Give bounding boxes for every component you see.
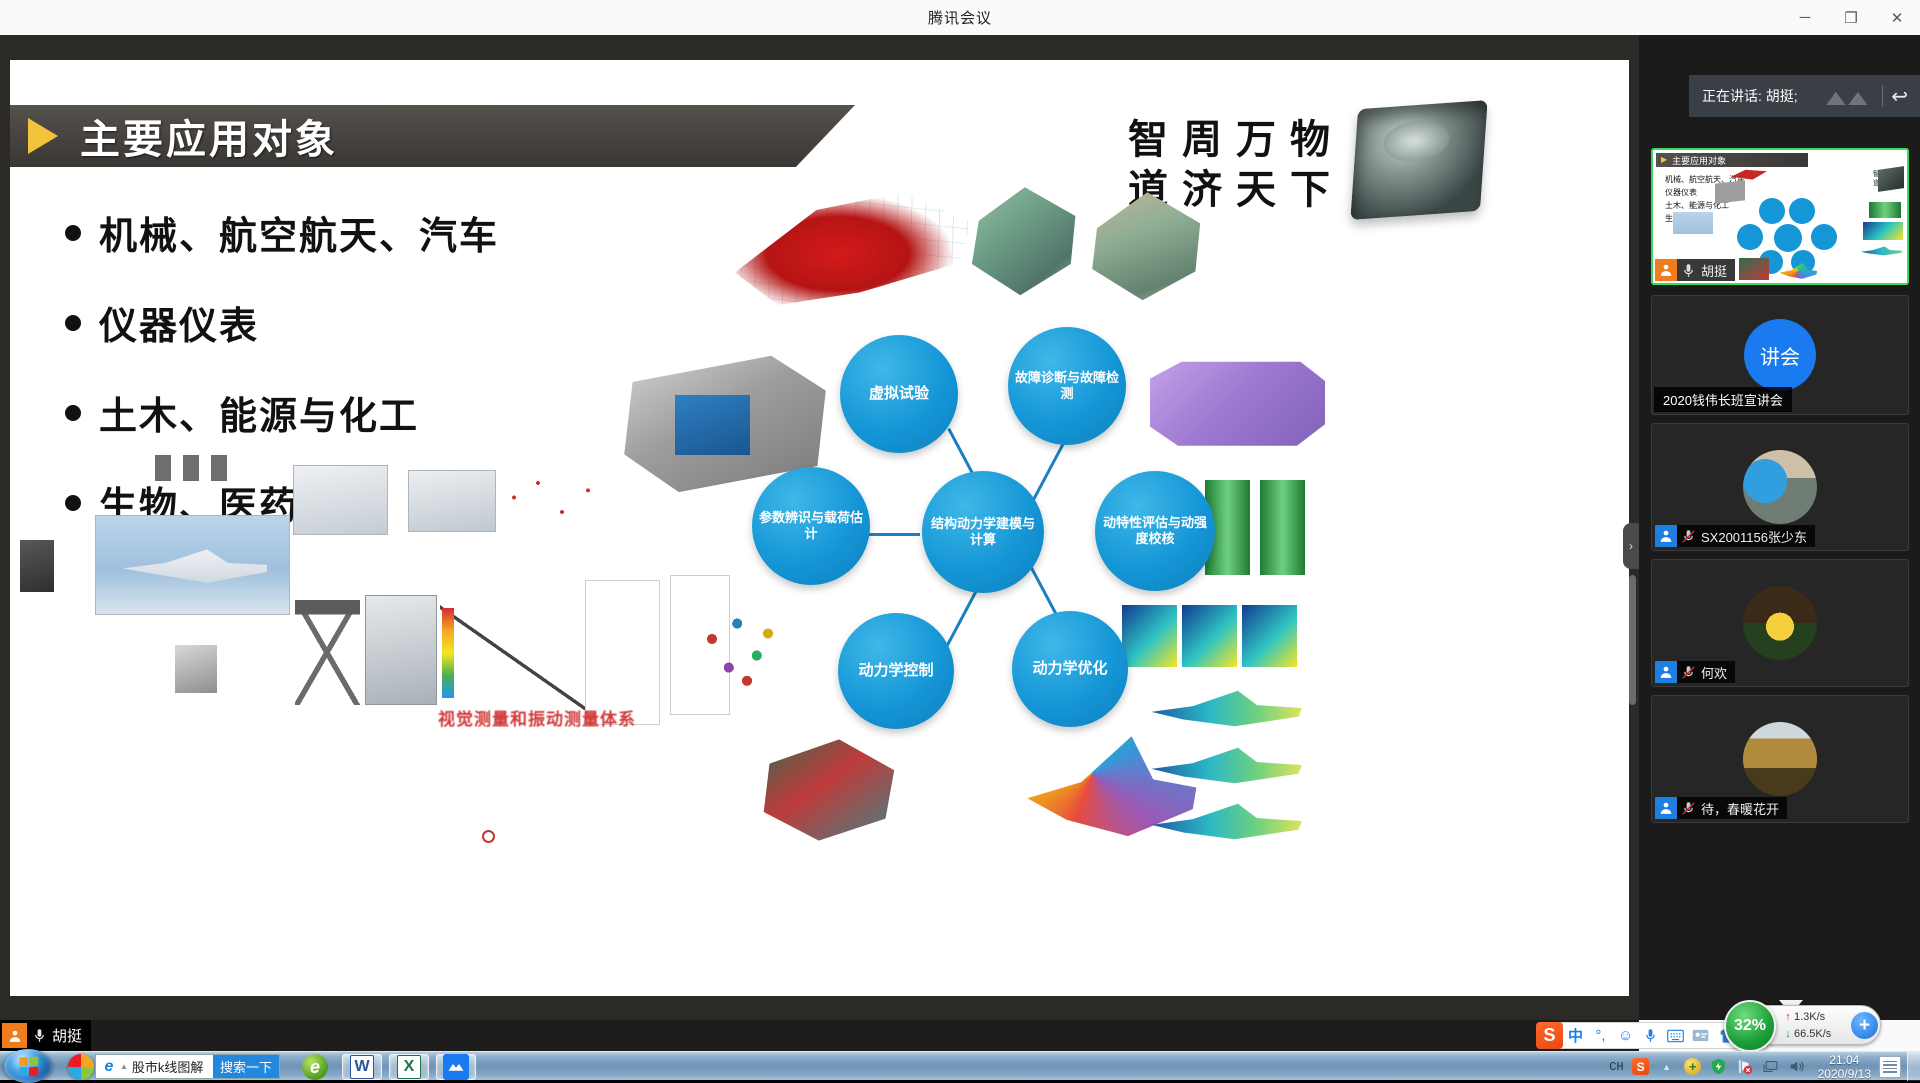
- slide-bullet-2: 仪器仪表: [65, 295, 259, 350]
- up-arrow-icon: ↑: [1782, 1009, 1794, 1026]
- network-speed-widget[interactable]: 32% ↑ 1.3K/s ↓ 66.5K/s +: [1731, 1005, 1881, 1045]
- bullet-text: 仪器仪表: [99, 295, 259, 350]
- thumb-contour-image: [1863, 222, 1903, 240]
- back-arrow-icon[interactable]: ↩: [1891, 84, 1908, 109]
- show-desktop-button[interactable]: [1907, 1052, 1920, 1081]
- calligraphy-line-1: 智周万物: [1128, 115, 1344, 165]
- green-mold-cad-image-1: [965, 180, 1080, 300]
- close-button[interactable]: ✕: [1874, 0, 1920, 35]
- bullet-dot-icon: [65, 405, 81, 421]
- avatar: [1743, 450, 1817, 524]
- title-bar: 腾讯会议 ─ ❐ ✕: [0, 0, 1920, 35]
- diagram-node-fault-diagnosis: 故障诊断与故障检测: [1008, 327, 1126, 445]
- stage-collapse-handle[interactable]: ›: [1623, 523, 1639, 569]
- clock-time: 21:04: [1818, 1053, 1871, 1067]
- windows-start-icon[interactable]: [4, 1049, 52, 1083]
- multi-curve-plot-image: [585, 580, 660, 725]
- tencent-meeting-icon: [443, 1054, 469, 1080]
- red-sine-wave-image: [502, 475, 602, 520]
- avatar: [1743, 722, 1817, 796]
- bullet-dot-icon: [65, 225, 81, 241]
- person-icon: [2, 1023, 27, 1048]
- self-name-label: 胡挺: [50, 1025, 91, 1046]
- measurement-cart-image: [365, 595, 437, 705]
- taskbar-microsoft-excel[interactable]: X: [389, 1054, 429, 1080]
- tencent-meeting-window: 腾讯会议 ─ ❐ ✕ 主要应用对象 机械、航空航天、汽车 仪器仪表 土木、能: [0, 0, 1920, 1080]
- slide-annotation: 视觉测量和振动测量体系: [438, 705, 636, 730]
- thumb-machine-image: [1715, 180, 1745, 203]
- bullet-text: 土木、能源与化工: [99, 385, 419, 440]
- person-icon: [1655, 797, 1677, 819]
- slide-bullet-1: 机械、航空航天、汽车: [65, 205, 499, 260]
- person-icon: [1655, 661, 1677, 683]
- diagram-node-dynamic-evaluation: 动特性评估与动强度校核: [1095, 471, 1215, 591]
- window-controls: ─ ❐ ✕: [1782, 0, 1920, 35]
- bullet-dot-icon: [65, 495, 81, 511]
- excel-icon: X: [397, 1055, 421, 1079]
- participant-tile-zhangshaodong[interactable]: SX2001156张少东: [1651, 423, 1909, 551]
- chevron-up-icon[interactable]: ▲: [120, 1062, 128, 1071]
- thumb-fringe-image: [1869, 202, 1901, 218]
- presentation-slide: 主要应用对象 机械、航空航天、汽车 仪器仪表 土木、能源与化工 生物、医药 智周…: [10, 60, 1629, 996]
- restore-button[interactable]: ❐: [1828, 0, 1874, 35]
- word-icon: W: [350, 1055, 374, 1079]
- speaking-status-bar: 正在讲话: 胡挺; ↩: [1689, 75, 1920, 117]
- update-icon[interactable]: +: [1682, 1056, 1704, 1078]
- self-badge: 胡挺: [0, 1020, 91, 1051]
- mic-icon[interactable]: [28, 1025, 50, 1047]
- ime-emoji-icon[interactable]: ☺: [1613, 1023, 1638, 1048]
- colorbar-legend-image: [442, 608, 454, 698]
- hub-spoke-diagram: 虚拟试验 故障诊断与故障检测 参数辨识与载荷估计 动特性评估与动强度校核 动力学…: [730, 305, 1290, 765]
- stone-seal-image: [1350, 100, 1487, 220]
- search-button[interactable]: 搜索一下: [213, 1055, 279, 1078]
- audio-peak-icon: [1826, 87, 1870, 105]
- tile-badge: 待，春暖花开: [1655, 797, 1787, 819]
- mic-muted-icon: [1677, 797, 1699, 819]
- speaking-label: 正在讲话: 胡挺;: [1702, 86, 1826, 106]
- person-icon: [1655, 259, 1677, 281]
- ime-chinese-mode[interactable]: 中: [1563, 1023, 1588, 1048]
- windows-taskbar: e ▲ 股市k线图解 搜索一下 e W X CH S ▲ +: [0, 1051, 1920, 1080]
- ime-punctuation-mode[interactable]: °,: [1588, 1023, 1613, 1048]
- down-arrow-icon: ↓: [1782, 1026, 1794, 1043]
- tile-name-label: 待，春暖花开: [1699, 799, 1787, 818]
- sensor-box-image-1: [20, 540, 54, 592]
- sensor-cluster-image: [155, 455, 235, 481]
- avatar-initials: 讲会: [1760, 341, 1800, 370]
- tray-language-indicator[interactable]: CH: [1609, 1060, 1623, 1074]
- bullet-dot-icon: [65, 315, 81, 331]
- mic-muted-icon: [1677, 661, 1699, 683]
- internet-explorer-icon: e: [100, 1058, 118, 1076]
- clock-date: 2020/9/13: [1818, 1067, 1871, 1081]
- tile-badge: 胡挺: [1655, 259, 1735, 281]
- internet-explorer-icon: e: [302, 1054, 328, 1080]
- diagram-node-dynamics-control: 动力学控制: [838, 613, 954, 729]
- participant-tile-xuanjianghui[interactable]: 讲会 2020钱伟长班宣讲会: [1651, 295, 1909, 415]
- participant-tile-hehuan[interactable]: 何欢: [1651, 559, 1909, 687]
- diagram-node-virtual-test: 虚拟试验: [840, 335, 958, 453]
- diagram-node-dynamics-optimization: 动力学优化: [1012, 611, 1128, 727]
- mic-muted-icon: [1677, 525, 1699, 547]
- network-rates: ↑ 1.3K/s ↓ 66.5K/s: [1782, 1009, 1831, 1043]
- diagram-node-center: 结构动力学建模与计算: [922, 471, 1044, 593]
- search-input[interactable]: 股市k线图解: [132, 1057, 213, 1076]
- participant-tile-huting[interactable]: ▶ 主要应用对象 机械、航空航天、汽车 仪器仪表 土木、能源与化工 生物、医药 …: [1651, 148, 1909, 285]
- expand-button[interactable]: +: [1851, 1012, 1878, 1039]
- tile-name-label: 2020钱伟长班宣讲会: [1654, 387, 1792, 412]
- upload-rate: ↑ 1.3K/s: [1782, 1009, 1831, 1026]
- volume-icon[interactable]: [1786, 1056, 1808, 1078]
- system-tray: CH S ▲ + 21:04 2020/9/13: [1605, 1052, 1920, 1081]
- ime-keyboard-icon[interactable]: [1663, 1023, 1688, 1048]
- thumb-heading: 主要应用对象: [1672, 154, 1726, 167]
- person-icon: [1655, 525, 1677, 547]
- tile-name-label: 何欢: [1699, 663, 1735, 682]
- line-chart-image: [440, 605, 590, 710]
- show-hidden-icons-button[interactable]: ▲: [1656, 1056, 1678, 1078]
- self-video-strip: 胡挺: [0, 1020, 1639, 1051]
- tile-name-label: SX2001156张少东: [1699, 527, 1815, 546]
- thumb-turbine-image: [1739, 258, 1769, 280]
- document-icon[interactable]: [1879, 1056, 1901, 1078]
- download-rate: ↓ 66.5K/s: [1782, 1026, 1831, 1043]
- thumb-fem-image: [1859, 245, 1903, 257]
- sensor-box-image-2: [175, 645, 217, 693]
- lab-equipment-image-2: [408, 470, 496, 532]
- diagram-node-parameter-identification: 参数辨识与载荷估计: [752, 467, 870, 585]
- mic-icon: [1677, 259, 1699, 281]
- display-icon[interactable]: [1760, 1056, 1782, 1078]
- windows-flag-icon: [19, 1056, 38, 1076]
- upload-value: 1.3K/s: [1794, 1009, 1825, 1026]
- red-aircraft-mesh-image: [730, 185, 970, 310]
- clock[interactable]: 21:04 2020/9/13: [1818, 1053, 1871, 1081]
- network-error-icon[interactable]: [1734, 1056, 1756, 1078]
- tile-badge: 何欢: [1655, 661, 1735, 683]
- triangle-icon: [28, 118, 58, 154]
- taskbar-internet-explorer[interactable]: e: [295, 1054, 335, 1080]
- bullet-text: 机械、航空航天、汽车: [99, 205, 499, 260]
- thumb-arrow-icon: ▶: [1661, 155, 1667, 164]
- sogou-icon[interactable]: S: [1630, 1056, 1652, 1078]
- tripod-camera-image: [295, 600, 360, 705]
- minimize-button[interactable]: ─: [1782, 0, 1828, 35]
- divider: [1882, 85, 1883, 107]
- tile-badge: SX2001156张少东: [1655, 525, 1815, 547]
- security-shield-icon[interactable]: [1708, 1056, 1730, 1078]
- stage-scrollbar[interactable]: [1629, 575, 1636, 705]
- slide-heading-banner: 主要应用对象: [10, 105, 855, 167]
- taskbar-microsoft-word[interactable]: W: [342, 1054, 382, 1080]
- window-title: 腾讯会议: [928, 7, 992, 28]
- laser-pointer-icon: [482, 830, 495, 843]
- thumb-plane-image: [1673, 212, 1713, 234]
- avatar: [1743, 586, 1817, 660]
- sogou-icon[interactable]: S: [1536, 1022, 1563, 1049]
- cpu-usage-gauge: 32%: [1724, 1000, 1776, 1052]
- download-value: 66.5K/s: [1794, 1026, 1831, 1043]
- taskbar-tencent-meeting[interactable]: [436, 1054, 476, 1080]
- ime-user-card-icon[interactable]: [1688, 1023, 1713, 1048]
- search-box[interactable]: e ▲ 股市k线图解 搜索一下: [95, 1054, 280, 1079]
- lab-equipment-image-1: [293, 465, 388, 535]
- ime-mic-icon[interactable]: [1638, 1023, 1663, 1048]
- tile-name-label: 胡挺: [1699, 261, 1735, 280]
- thumb-seal-icon: [1878, 166, 1904, 192]
- participant-tile-chunnuanhuakai[interactable]: 待，春暖花开: [1651, 695, 1909, 823]
- avatar: 讲会: [1744, 319, 1816, 391]
- slide-bullet-3: 土木、能源与化工: [65, 385, 419, 440]
- shared-screen-stage[interactable]: 主要应用对象 机械、航空航天、汽车 仪器仪表 土木、能源与化工 生物、医药 智周…: [0, 35, 1639, 1020]
- slide-heading: 主要应用对象: [80, 107, 338, 165]
